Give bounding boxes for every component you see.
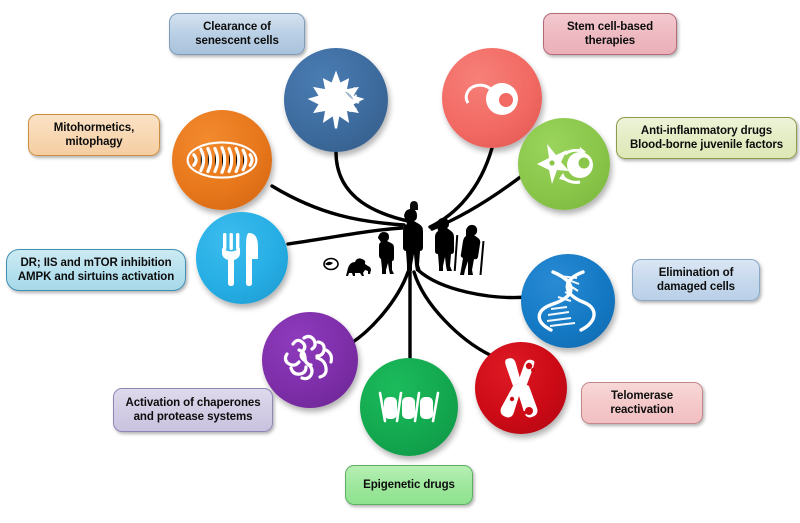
label-inflammation[interactable]: Anti-inflammatory drugs Blood-borne juve…: [616, 117, 797, 159]
icon-circle-stemcell[interactable]: [442, 48, 542, 148]
mitochondrion-icon: [185, 132, 259, 188]
icon-circle-epigenetic[interactable]: [360, 358, 458, 456]
chromosome-telomere-icon: [493, 355, 549, 421]
stem-cell-division-icon: [458, 69, 526, 127]
icon-circle-senescent[interactable]: [284, 48, 388, 152]
diagram-canvas: Clearance of senescent cells Mitohormeti…: [0, 0, 800, 523]
icon-circle-damaged[interactable]: [521, 254, 615, 348]
label-chaperones[interactable]: Activation of chaperones and protease sy…: [113, 388, 273, 432]
label-epigenetic[interactable]: Epigenetic drugs: [345, 465, 473, 505]
label-dietary[interactable]: DR; IIS and mTOR inhibition AMPK and sir…: [6, 249, 186, 291]
cell-communication-icon: [531, 136, 597, 192]
maple-leaf-icon: [301, 65, 371, 135]
icon-circle-telomerase[interactable]: [475, 342, 567, 434]
nucleosome-icon: [376, 383, 442, 431]
label-senescent[interactable]: Clearance of senescent cells: [169, 13, 305, 55]
label-damaged[interactable]: Elimination of damaged cells: [632, 259, 760, 301]
fork-and-knife-icon: [215, 227, 269, 289]
icon-circle-inflammation[interactable]: [518, 118, 610, 210]
icon-circle-mitohormetics[interactable]: [172, 110, 272, 210]
icon-circle-chaperones[interactable]: [262, 312, 358, 408]
label-stemcell[interactable]: Stem cell-based therapies: [543, 13, 677, 55]
icon-circle-dietary[interactable]: [196, 212, 288, 304]
protein-fold-icon: [277, 330, 343, 390]
label-telomerase[interactable]: Telomerase reactivation: [581, 382, 703, 424]
label-mitohormetics[interactable]: Mitohormetics, mitophagy: [28, 114, 160, 156]
dna-helix-icon: [537, 266, 599, 336]
